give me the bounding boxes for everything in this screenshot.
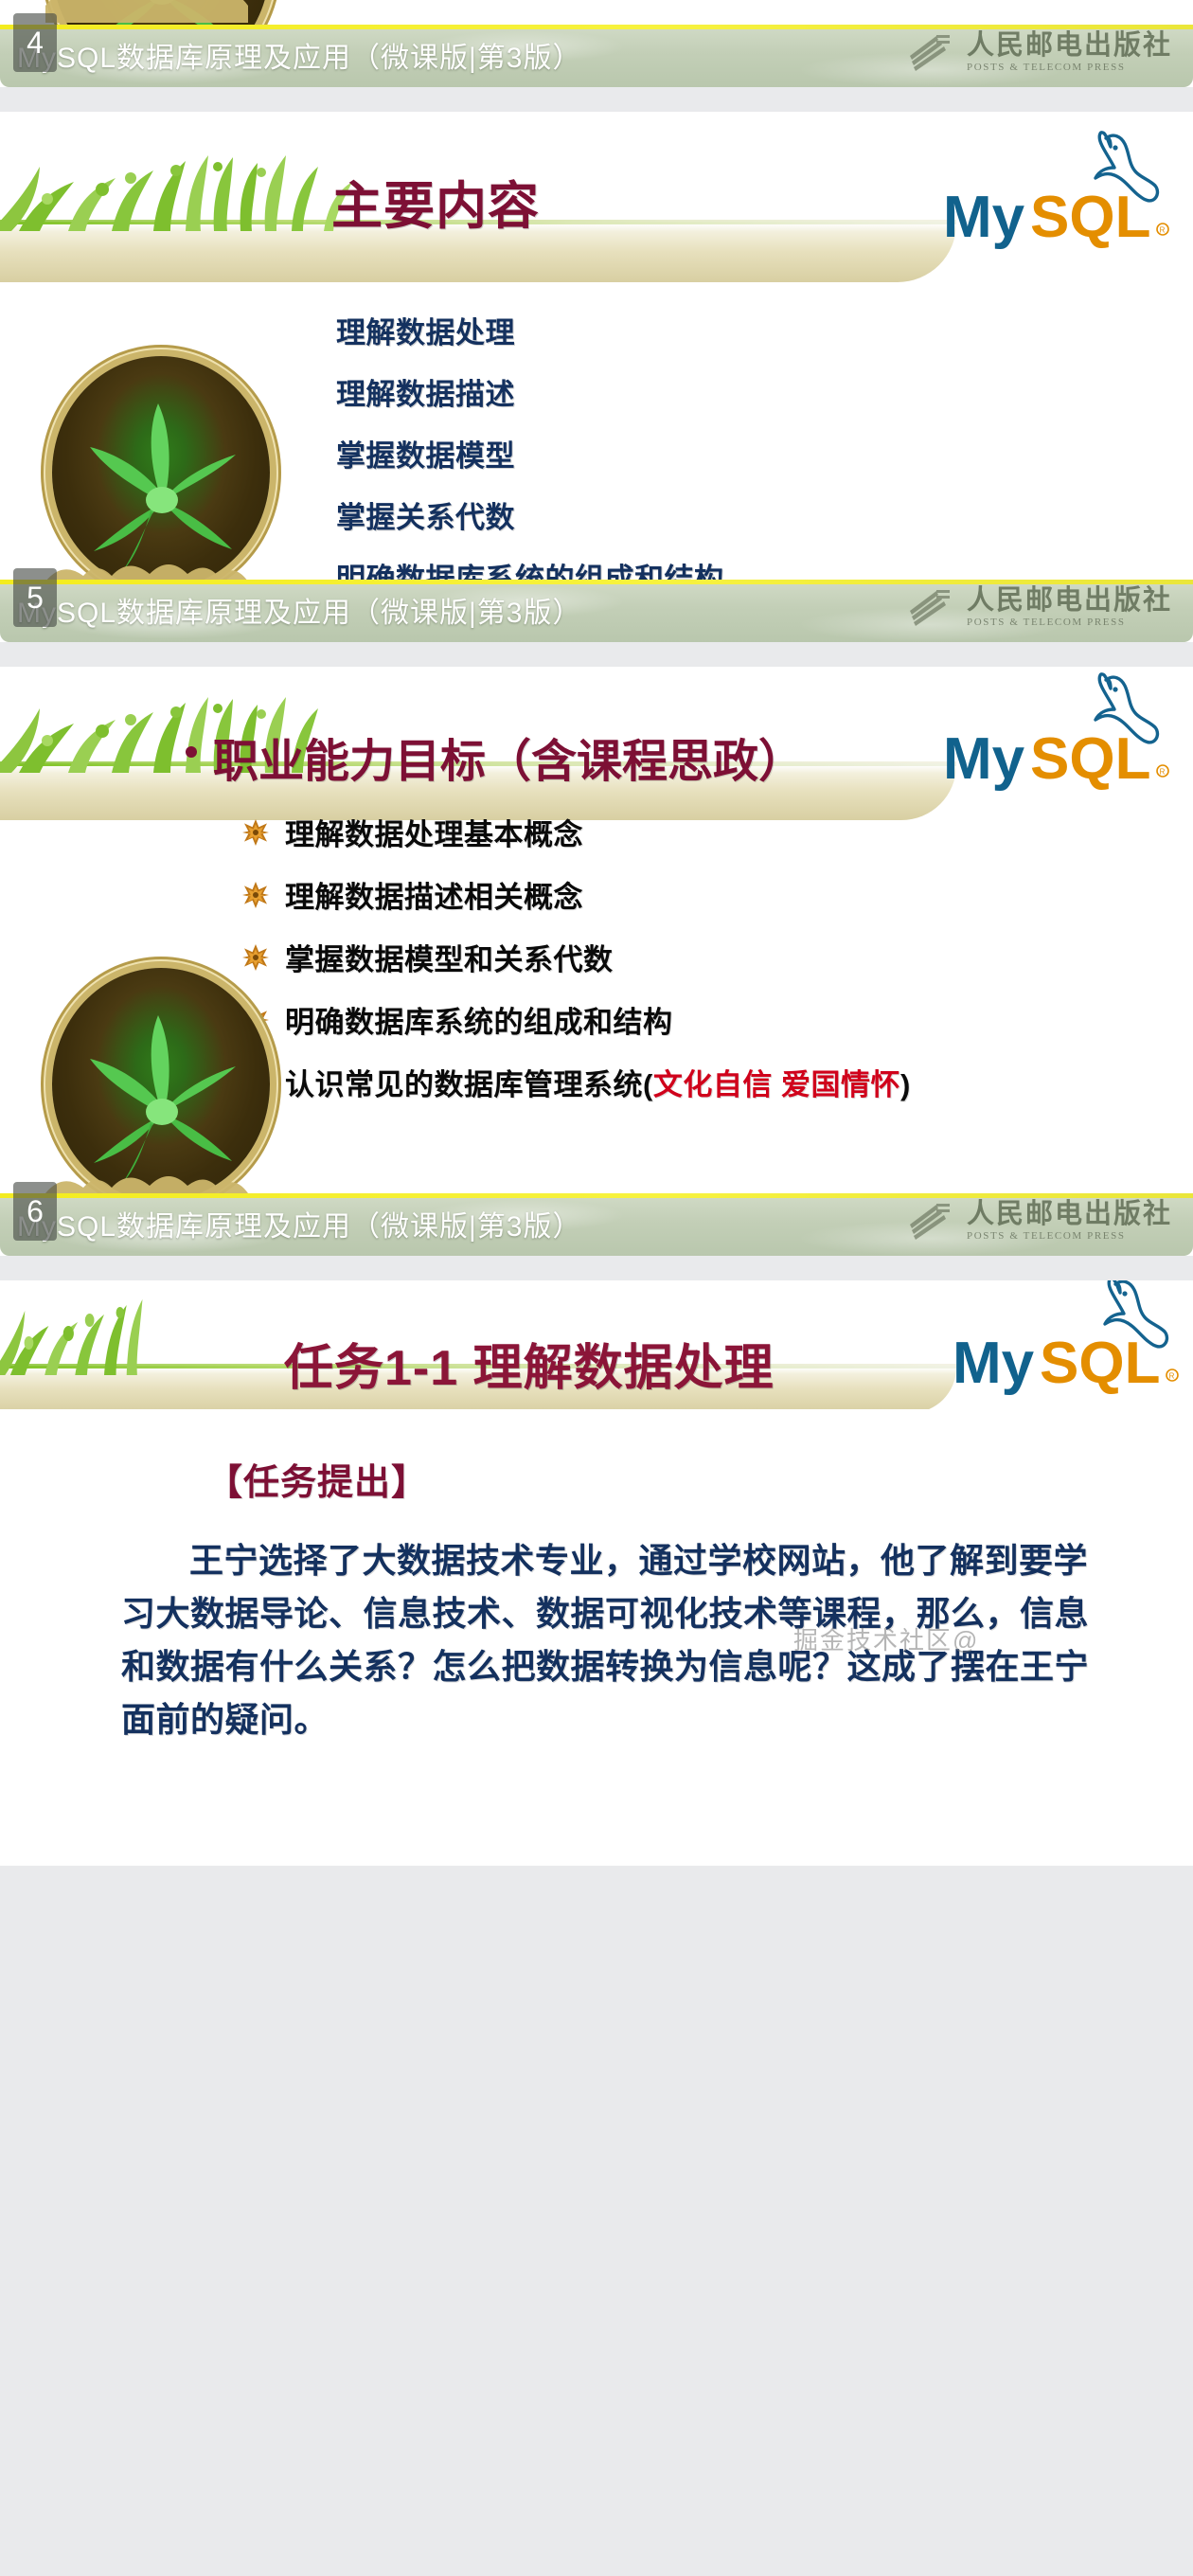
slide-footer: MySQL数据库原理及应用（微课版|第3版） 人民邮电出版社 POSTS & T… <box>0 25 1193 87</box>
publisher-name-cn: 人民邮电出版社 <box>967 1201 1172 1228</box>
floral-grass-icon <box>0 1294 275 1375</box>
slide-7: My SQL R 任务1-1 理解数据处理 【任务提出】 王宁选择了大数据技术专… <box>0 1280 1193 1866</box>
slide-footer: MySQL数据库原理及应用（微课版|第3版） 人民邮电出版社 POSTS & T… <box>0 580 1193 642</box>
slide-gap <box>0 1256 1193 1280</box>
publisher-mark-icon <box>908 33 957 73</box>
list-item: 认识常见的数据库管理系统(文化自信 爱国情怀) <box>241 1061 1094 1103</box>
svg-text:SQL: SQL <box>1030 185 1150 250</box>
slide-4: MySQL数据库原理及应用（微课版|第3版） 人民邮电出版社 POSTS & T… <box>0 0 1193 87</box>
publisher-mark-icon <box>908 1202 957 1242</box>
list-item-text: 认识常见的数据库管理系统( <box>285 1068 653 1101</box>
svg-text:My: My <box>943 726 1025 792</box>
title-bullet-dot <box>186 746 197 758</box>
list-item-label: 掌握数据模型和关系代数 <box>285 936 614 978</box>
slide-6: My SQL R 职业能力目标（含课程思政） 理解数据处理基本概念 <box>0 667 1193 1256</box>
list-item: 理解数据处理 <box>336 318 1056 348</box>
list-item: 理解数据描述相关概念 <box>241 873 1094 916</box>
page-number-chip-6: 6 <box>13 1182 57 1241</box>
slide-header: My SQL R 主要内容 <box>0 112 1193 282</box>
svg-text:My: My <box>953 1331 1035 1396</box>
list-item-label: 理解数据处理基本概念 <box>285 811 583 853</box>
star-burst-icon <box>241 818 270 847</box>
list-item: 掌握关系代数 <box>336 503 1056 532</box>
plant-ornament-icon <box>36 0 288 25</box>
mysql-logo: My SQL R <box>939 131 1176 254</box>
svg-text:R: R <box>1160 768 1166 777</box>
list-item-tail: ) <box>900 1068 911 1101</box>
footer-title: MySQL数据库原理及应用（微课版|第3版） <box>17 34 582 76</box>
mysql-logo: My SQL R <box>939 672 1176 796</box>
publisher-name-cn: 人民邮电出版社 <box>967 32 1172 60</box>
publisher-name-cn: 人民邮电出版社 <box>967 587 1172 615</box>
slide-header: My SQL R 任务1-1 理解数据处理 <box>0 1280 1193 1409</box>
list-item: 理解数据描述 <box>336 380 1056 409</box>
mysql-logo: My SQL R <box>949 1280 1185 1400</box>
publisher-name-en: POSTS & TELECOM PRESS <box>967 617 1172 628</box>
slide-gap <box>0 87 1193 112</box>
footer-title: MySQL数据库原理及应用（微课版|第3版） <box>17 589 582 631</box>
publisher-name-en: POSTS & TELECOM PRESS <box>967 63 1172 73</box>
list-item: 掌握数据模型和关系代数 <box>241 936 1094 978</box>
svg-text:R: R <box>1160 226 1166 235</box>
slide-footer: MySQL数据库原理及应用（微课版|第3版） 人民邮电出版社 POSTS & T… <box>0 1193 1193 1256</box>
star-burst-icon <box>241 881 270 909</box>
page-title: 任务1-1 理解数据处理 <box>284 1328 775 1399</box>
publisher-mark-icon <box>908 588 957 628</box>
svg-text:R: R <box>1169 1372 1175 1381</box>
list-item-highlight: 文化自信 爱国情怀 <box>653 1068 900 1101</box>
list-item: 理解数据处理基本概念 <box>241 811 1094 853</box>
objectives-list: 理解数据处理基本概念 理解数据描述相关概念 掌握数据模型和关系代数 <box>241 811 1094 1123</box>
publisher-name-en: POSTS & TELECOM PRESS <box>967 1231 1172 1242</box>
list-item-label: 认识常见的数据库管理系统(文化自信 爱国情怀) <box>285 1061 911 1103</box>
list-item: 掌握数据模型 <box>336 441 1056 471</box>
page-number-chip-5: 5 <box>13 568 57 627</box>
publisher-logo: 人民邮电出版社 POSTS & TELECOM PRESS <box>908 587 1172 628</box>
svg-text:SQL: SQL <box>1040 1331 1160 1396</box>
page-number-chip-4: 4 <box>13 13 57 72</box>
list-item-label: 理解数据描述相关概念 <box>285 873 583 916</box>
list-item: 明确数据库系统的组成和结构 <box>241 998 1094 1041</box>
star-burst-icon <box>241 943 270 972</box>
slide-gap <box>0 642 1193 667</box>
publisher-logo: 人民邮电出版社 POSTS & TELECOM PRESS <box>908 32 1172 73</box>
list-item-label: 明确数据库系统的组成和结构 <box>285 998 673 1041</box>
section-label: 【任务提出】 <box>206 1453 428 1505</box>
slide-5: My SQL R 主要内容 理解数据处理 理解数据描述 掌握数据模型 掌握关系代… <box>0 112 1193 642</box>
task-body-text: 王宁选择了大数据技术专业，通过学校网站，他了解到要学习大数据导论、信息技术、数据… <box>121 1534 1106 1747</box>
page-title: 职业能力目标（含课程思政） <box>213 724 804 790</box>
publisher-logo: 人民邮电出版社 POSTS & TELECOM PRESS <box>908 1201 1172 1242</box>
svg-text:SQL: SQL <box>1030 726 1150 792</box>
page-title: 主要内容 <box>331 164 540 239</box>
footer-title: MySQL数据库原理及应用（微课版|第3版） <box>17 1203 582 1244</box>
svg-text:My: My <box>943 185 1025 250</box>
